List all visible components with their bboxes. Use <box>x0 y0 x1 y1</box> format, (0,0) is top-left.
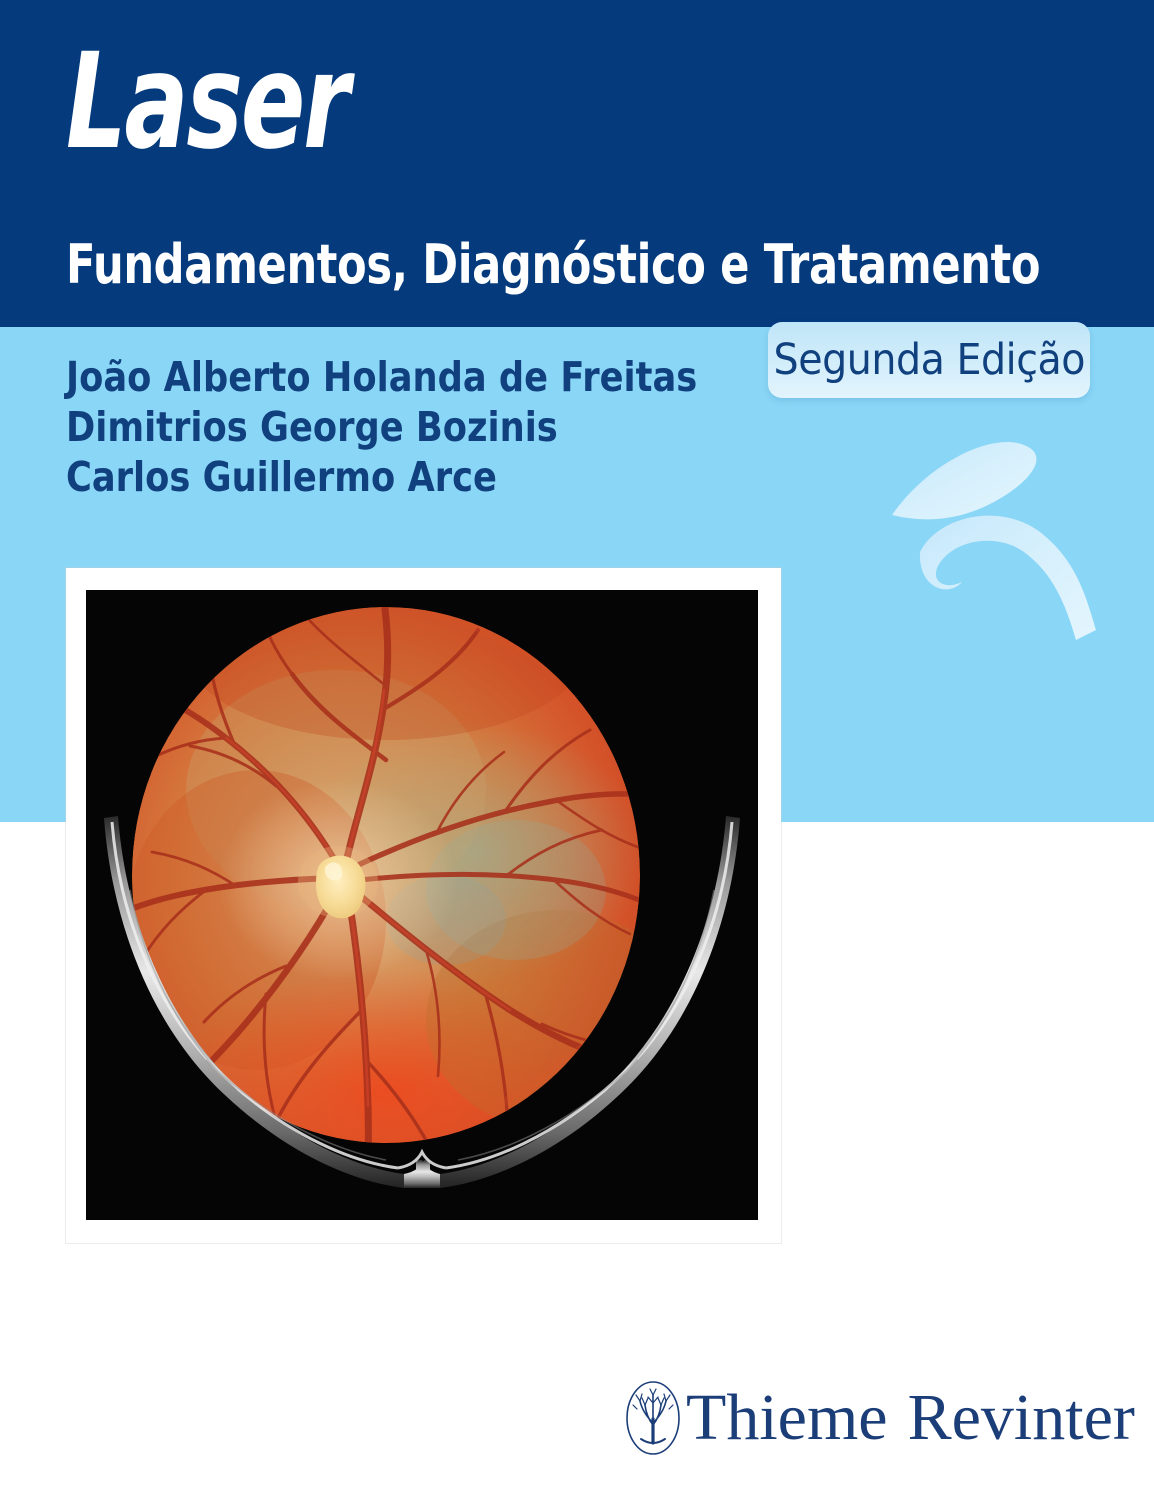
author-name: Dimitrios George Bozinis <box>66 402 697 452</box>
fundus-oct-illustration-icon <box>86 590 758 1220</box>
author-name: João Alberto Holanda de Freitas <box>66 352 697 402</box>
cover-artwork-frame <box>66 568 781 1243</box>
publisher-revinter: Revinter <box>908 1381 1135 1454</box>
header-band: Laser Fundamentos, Diagnóstico e Tratame… <box>0 0 1154 327</box>
thieme-tree-icon <box>624 1379 682 1457</box>
publisher-name: ThiemeRevinter <box>686 1385 1135 1451</box>
book-subtitle: Fundamentos, Diagnóstico e Tratamento <box>66 238 1040 292</box>
edition-badge-label: Segunda Edição <box>773 335 1084 385</box>
optic-disc <box>298 846 378 918</box>
page-title: Laser <box>66 36 348 168</box>
author-list: João Alberto Holanda de Freitas Dimitrio… <box>66 352 697 502</box>
cover-artwork-image <box>86 590 758 1220</box>
book-cover: Laser Fundamentos, Diagnóstico e Tratame… <box>0 0 1154 1500</box>
publisher-logo: ThiemeRevinter <box>624 1372 1135 1464</box>
author-name: Carlos Guillermo Arce <box>66 452 697 502</box>
publisher-thieme: Thieme <box>686 1381 888 1454</box>
edition-badge: Segunda Edição <box>768 322 1090 398</box>
